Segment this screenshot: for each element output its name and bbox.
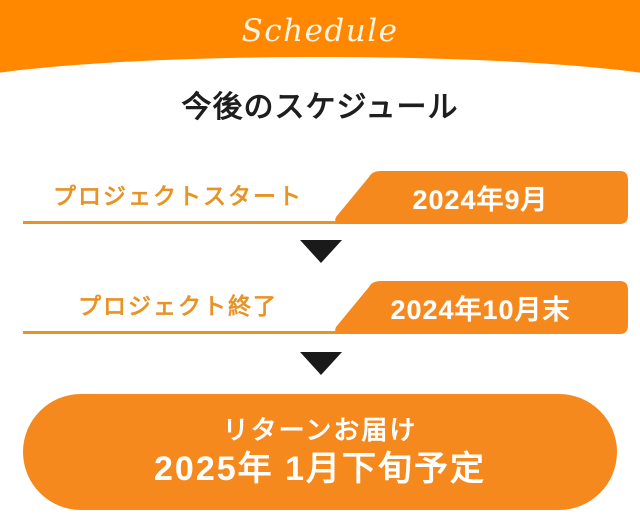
triangle-down-icon — [300, 240, 342, 263]
triangle-down-icon — [300, 352, 342, 375]
schedule-row-underline — [23, 331, 340, 334]
header-curve-divider — [0, 57, 640, 80]
schedule-row: プロジェクト終了 2024年10月末 — [0, 278, 640, 336]
schedule-row: プロジェクトスタート 2024年9月 — [0, 168, 640, 226]
header-band: Schedule — [0, 0, 640, 80]
schedule-row-label: プロジェクトスタート — [23, 174, 333, 218]
schedule-row-date-text: 2024年9月 — [333, 171, 628, 224]
return-delivery-title: リターンお届け — [223, 413, 418, 447]
schedule-row-date-ribbon: 2024年9月 — [333, 171, 628, 224]
schedule-row-date-text: 2024年10月末 — [333, 281, 628, 334]
schedule-row-underline — [23, 221, 340, 224]
return-delivery-box: リターンお届け 2025年 1月下旬予定 — [23, 394, 617, 510]
section-heading: 今後のスケジュール — [0, 88, 640, 128]
schedule-infographic: Schedule 今後のスケジュール プロジェクトスタート 2024年9月 プロ… — [0, 0, 640, 525]
schedule-row-date-ribbon: 2024年10月末 — [333, 281, 628, 334]
return-delivery-date: 2025年 1月下旬予定 — [154, 447, 486, 491]
header-title: Schedule — [0, 13, 640, 49]
schedule-row-label: プロジェクト終了 — [23, 284, 333, 328]
